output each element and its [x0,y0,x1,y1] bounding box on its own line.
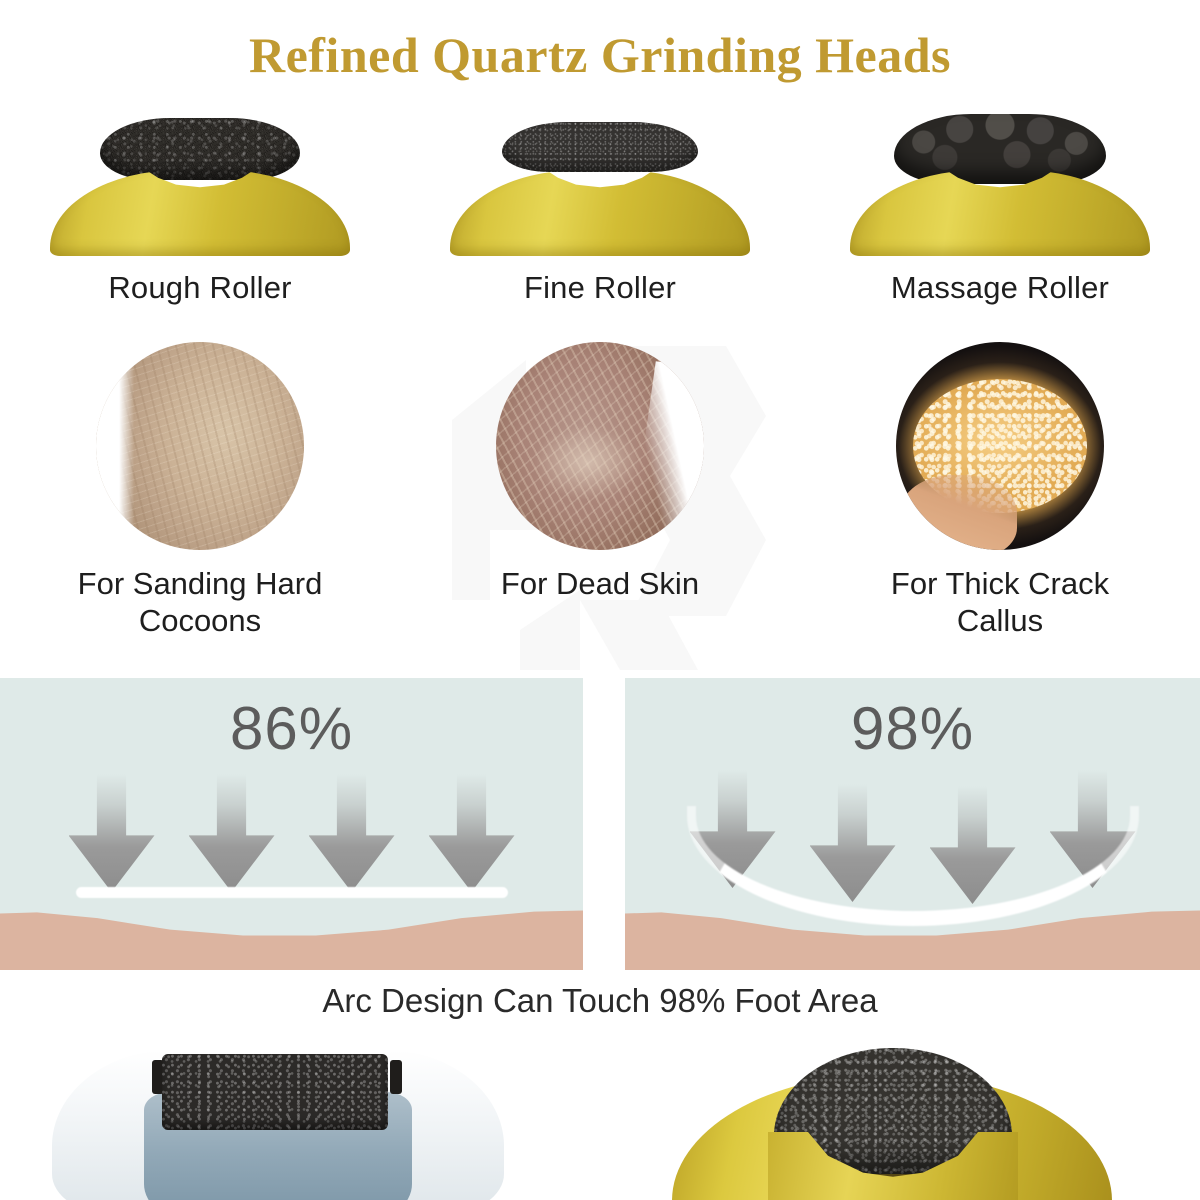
fine-grit-surface [502,122,698,172]
use-case-thick-crack-callus: For Thick Crack Callus [800,342,1200,662]
cracked-heel-photo [96,342,304,550]
gold-roller-base [450,170,750,256]
roller-card-massage: Massage Roller [800,112,1200,332]
coverage-panel-arc: 98% [625,678,1200,970]
caption-line: Cocoons [78,603,323,640]
arc-design-caption: Arc Design Can Touch 98% Foot Area [0,982,1200,1020]
down-arrow-icon [429,774,515,892]
roller-label: Rough Roller [108,270,291,306]
infographic-page: Refined Quartz Grinding Heads Rough Roll… [0,0,1200,1200]
roller-label: Fine Roller [524,270,676,306]
down-arrow-icon [189,774,275,892]
use-case-caption: For Thick Crack Callus [891,566,1109,639]
massage-nub-surface [894,114,1106,184]
thick-callus-foot-photo [896,342,1104,550]
use-case-caption: For Dead Skin [501,566,699,603]
caption-line: Callus [891,603,1109,640]
use-case-sanding-hard-cocoons: For Sanding Hard Cocoons [0,342,400,662]
coverage-percent-flat: 86% [0,694,583,763]
use-case-dead-skin: For Dead Skin [400,342,800,662]
coverage-comparison: 86% 98% [0,678,1200,970]
use-case-row: For Sanding Hard Cocoons For Dead Skin F… [0,342,1200,662]
dead-skin-heel-photo [496,342,704,550]
roller-types-row: Rough Roller Fine Roller Massage Roller [0,112,1200,332]
page-title: Refined Quartz Grinding Heads [0,26,1200,84]
roller-end-cap-right [390,1060,402,1094]
bottom-product-photos [0,1034,1200,1200]
arc-contact-bar [687,806,1139,926]
down-arrow-icon [69,774,155,892]
coverage-percent-arc: 98% [625,694,1200,763]
caption-line: For Dead Skin [501,566,699,603]
fine-grit-roller-icon [445,112,755,262]
gold-roller-base [50,170,350,256]
down-arrow-icon [309,774,395,892]
pressure-arrows-flat [0,774,583,892]
use-case-caption: For Sanding Hard Cocoons [78,566,323,639]
rough-grit-roller-icon [45,112,355,262]
flat-roller-device-photo [52,1044,504,1200]
roller-card-rough: Rough Roller [0,112,400,332]
massage-nub-roller-icon [845,112,1155,262]
flat-contact-bar [76,887,508,898]
coverage-panel-flat: 86% [0,678,583,970]
roller-card-fine: Fine Roller [400,112,800,332]
caption-line: For Thick Crack [891,566,1109,603]
arc-grinding-head-device-photo [672,1048,1112,1200]
caption-line: For Sanding Hard [78,566,323,603]
roller-label: Massage Roller [891,270,1109,306]
rough-grit-surface [100,118,300,180]
flat-grinding-roller [162,1054,388,1130]
skin-surface-wave [0,898,583,970]
